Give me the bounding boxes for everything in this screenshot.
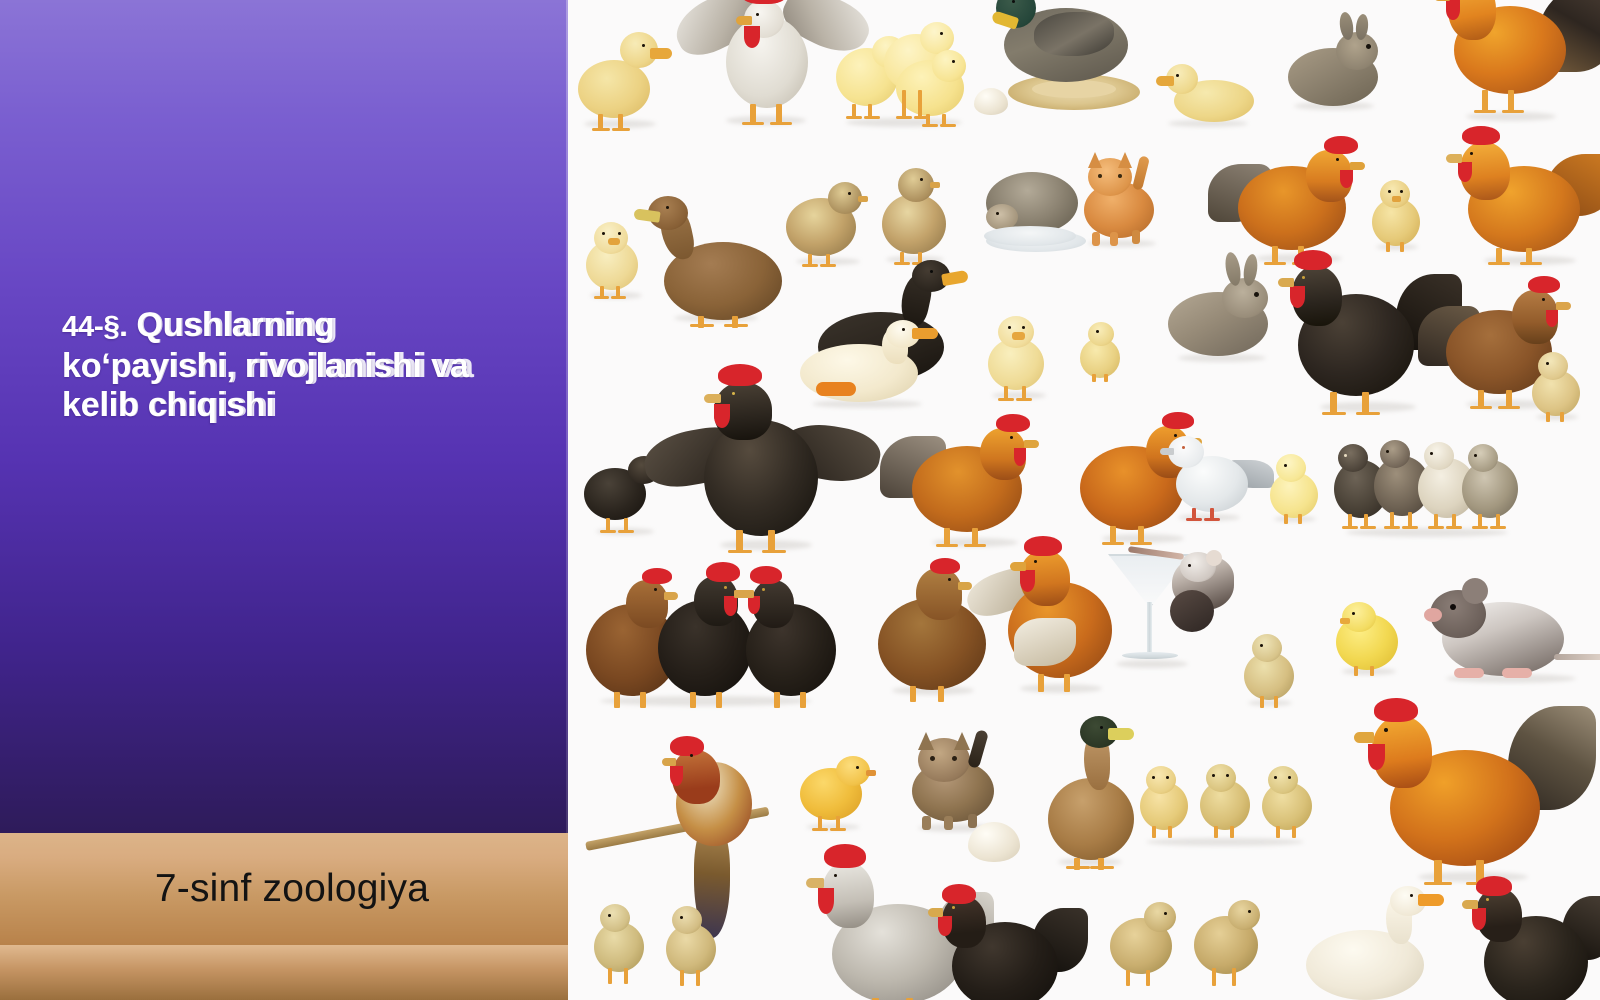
page-title: 44-§. Qushlarning ko‘payishi, rivojlanis… (62, 306, 622, 425)
tall-duck (1038, 716, 1150, 872)
tabby-kitten (904, 726, 1022, 836)
chick-bottom-left-2 (664, 902, 726, 990)
white-pigeon (1158, 426, 1270, 526)
chick-row2 (1370, 176, 1428, 254)
subtitle-wrapper: 7-sinf zoologiya (0, 833, 568, 945)
orange-rooster-fluffy (1434, 136, 1600, 272)
white-goose-bottom (1300, 886, 1450, 1000)
yellow-chick-row4 (1268, 450, 1326, 526)
egg (974, 88, 1008, 115)
orange-rooster-top (1420, 0, 1600, 132)
mallard-duck-on-nest (986, 0, 1166, 126)
quail-chick-1 (786, 170, 874, 270)
subtitle-text: 7-sinf zoologiya (155, 867, 429, 911)
section-number: 44-§. (62, 311, 127, 343)
dark-rooster-bottom-right (1450, 880, 1600, 1000)
subtitle-band-lower (0, 945, 568, 1000)
quail-chick-2 (876, 160, 960, 268)
black-hen-bottom (912, 886, 1080, 1000)
chick-tiny-mid (1078, 320, 1126, 382)
three-small-chicks (1138, 762, 1318, 850)
chicks-bottom-mid (1108, 892, 1288, 992)
saucer (984, 226, 1076, 246)
slide-root: 44-§. Qushlarning ko‘payishi, rivojlanis… (0, 0, 1600, 1000)
rat (1428, 576, 1600, 692)
grey-rabbit (1164, 256, 1284, 366)
yellow-chicks-group (834, 20, 976, 132)
chick-far-right-row3 (1530, 348, 1588, 424)
yellow-chick-right-row5 (1334, 598, 1410, 678)
duckling-sitting (1160, 52, 1260, 128)
chick-lower-mid (1242, 630, 1304, 710)
animal-collage-image (568, 0, 1600, 1000)
ginger-kitten (1078, 146, 1172, 250)
title-block: 44-§. Qushlarning ko‘payishi, rivojlanis… (62, 306, 622, 425)
chick-walking (798, 748, 876, 834)
duckling-upright-mid (984, 310, 1056, 402)
multicolour-hen-row4 (884, 420, 1056, 550)
dark-rooster-wings-out (652, 368, 872, 558)
orange-hen-row2 (1212, 140, 1382, 270)
martini-glass-with-rat (1088, 540, 1248, 720)
duckling (576, 22, 676, 130)
brown-duck (642, 190, 788, 328)
collage-canvas (568, 0, 1600, 1000)
big-orange-rooster-bottom (1336, 700, 1594, 890)
three-hens-group (584, 570, 848, 712)
wild-rabbit (1284, 14, 1388, 114)
chick-bottom-left-1 (592, 898, 654, 988)
speckled-chicks-group (1334, 436, 1524, 542)
